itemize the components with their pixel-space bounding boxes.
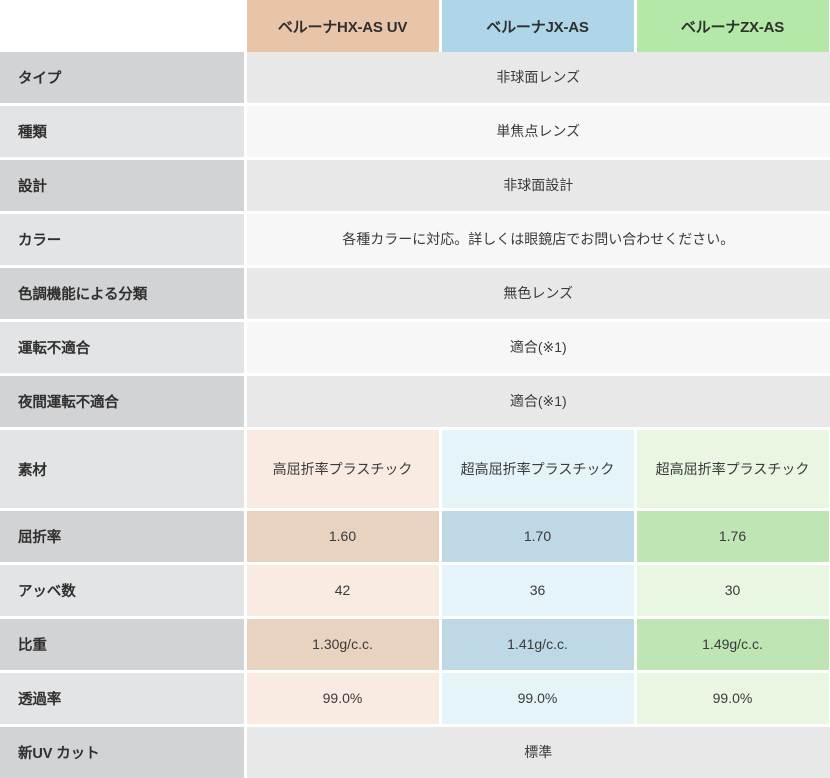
row-label-night-driving-unsuitable: 夜間運転不適合: [0, 375, 245, 429]
row-label-abbe-number: アッベ数: [0, 564, 245, 618]
row-label-driving-unsuitable: 運転不適合: [0, 321, 245, 375]
table-header-row: ベルーナHX-AS UV ベルーナJX-AS ベルーナZX-AS: [0, 0, 830, 52]
table-row-night-driving-unsuitable: 夜間運転不適合 適合(※1): [0, 375, 830, 429]
table-row-abbe-number: アッベ数 42 36 30: [0, 564, 830, 618]
row-value-abbe-number-zx: 30: [635, 564, 830, 618]
row-label-refractive-index: 屈折率: [0, 510, 245, 564]
lens-spec-table: ベルーナHX-AS UV ベルーナJX-AS ベルーナZX-AS タイプ 非球面…: [0, 0, 830, 778]
row-label-design: 設計: [0, 159, 245, 213]
table-row-driving-unsuitable: 運転不適合 適合(※1): [0, 321, 830, 375]
row-value-specific-gravity-zx: 1.49g/c.c.: [635, 618, 830, 672]
row-value-specific-gravity-jx: 1.41g/c.c.: [440, 618, 635, 672]
table-row-specific-gravity: 比重 1.30g/c.c. 1.41g/c.c. 1.49g/c.c.: [0, 618, 830, 672]
row-label-material: 素材: [0, 429, 245, 510]
table-row-type: タイプ 非球面レンズ: [0, 52, 830, 105]
row-value-refractive-index-zx: 1.76: [635, 510, 830, 564]
row-value-transmittance-hx: 99.0%: [245, 672, 440, 726]
row-value-material-zx: 超高屈折率プラスチック: [635, 429, 830, 510]
header-corner-cell: [0, 0, 245, 52]
row-label-kind: 種類: [0, 105, 245, 159]
row-label-new-uv-cut: 新UV カット: [0, 726, 245, 778]
row-value-design: 非球面設計: [245, 159, 830, 213]
row-label-specific-gravity: 比重: [0, 618, 245, 672]
row-value-night-driving-unsuitable: 適合(※1): [245, 375, 830, 429]
row-value-material-hx: 高屈折率プラスチック: [245, 429, 440, 510]
table-row-new-uv-cut: 新UV カット 標準: [0, 726, 830, 778]
row-value-transmittance-jx: 99.0%: [440, 672, 635, 726]
row-label-tone-classification: 色調機能による分類: [0, 267, 245, 321]
row-value-refractive-index-hx: 1.60: [245, 510, 440, 564]
row-value-driving-unsuitable: 適合(※1): [245, 321, 830, 375]
row-value-kind: 単焦点レンズ: [245, 105, 830, 159]
row-label-color: カラー: [0, 213, 245, 267]
row-value-refractive-index-jx: 1.70: [440, 510, 635, 564]
row-value-abbe-number-hx: 42: [245, 564, 440, 618]
row-label-transmittance: 透過率: [0, 672, 245, 726]
row-value-type: 非球面レンズ: [245, 52, 830, 105]
row-label-type: タイプ: [0, 52, 245, 105]
table-row-kind: 種類 単焦点レンズ: [0, 105, 830, 159]
row-value-new-uv-cut: 標準: [245, 726, 830, 778]
row-value-tone-classification: 無色レンズ: [245, 267, 830, 321]
product-header-zx: ベルーナZX-AS: [635, 0, 830, 52]
table-row-material: 素材 高屈折率プラスチック 超高屈折率プラスチック 超高屈折率プラスチック: [0, 429, 830, 510]
table-row-design: 設計 非球面設計: [0, 159, 830, 213]
row-value-material-jx: 超高屈折率プラスチック: [440, 429, 635, 510]
row-value-color: 各種カラーに対応。詳しくは眼鏡店でお問い合わせください。: [245, 213, 830, 267]
row-value-specific-gravity-hx: 1.30g/c.c.: [245, 618, 440, 672]
table-row-tone-classification: 色調機能による分類 無色レンズ: [0, 267, 830, 321]
product-header-jx: ベルーナJX-AS: [440, 0, 635, 52]
table-row-color: カラー 各種カラーに対応。詳しくは眼鏡店でお問い合わせください。: [0, 213, 830, 267]
table-row-refractive-index: 屈折率 1.60 1.70 1.76: [0, 510, 830, 564]
row-value-abbe-number-jx: 36: [440, 564, 635, 618]
table-row-transmittance: 透過率 99.0% 99.0% 99.0%: [0, 672, 830, 726]
product-header-hx: ベルーナHX-AS UV: [245, 0, 440, 52]
row-value-transmittance-zx: 99.0%: [635, 672, 830, 726]
